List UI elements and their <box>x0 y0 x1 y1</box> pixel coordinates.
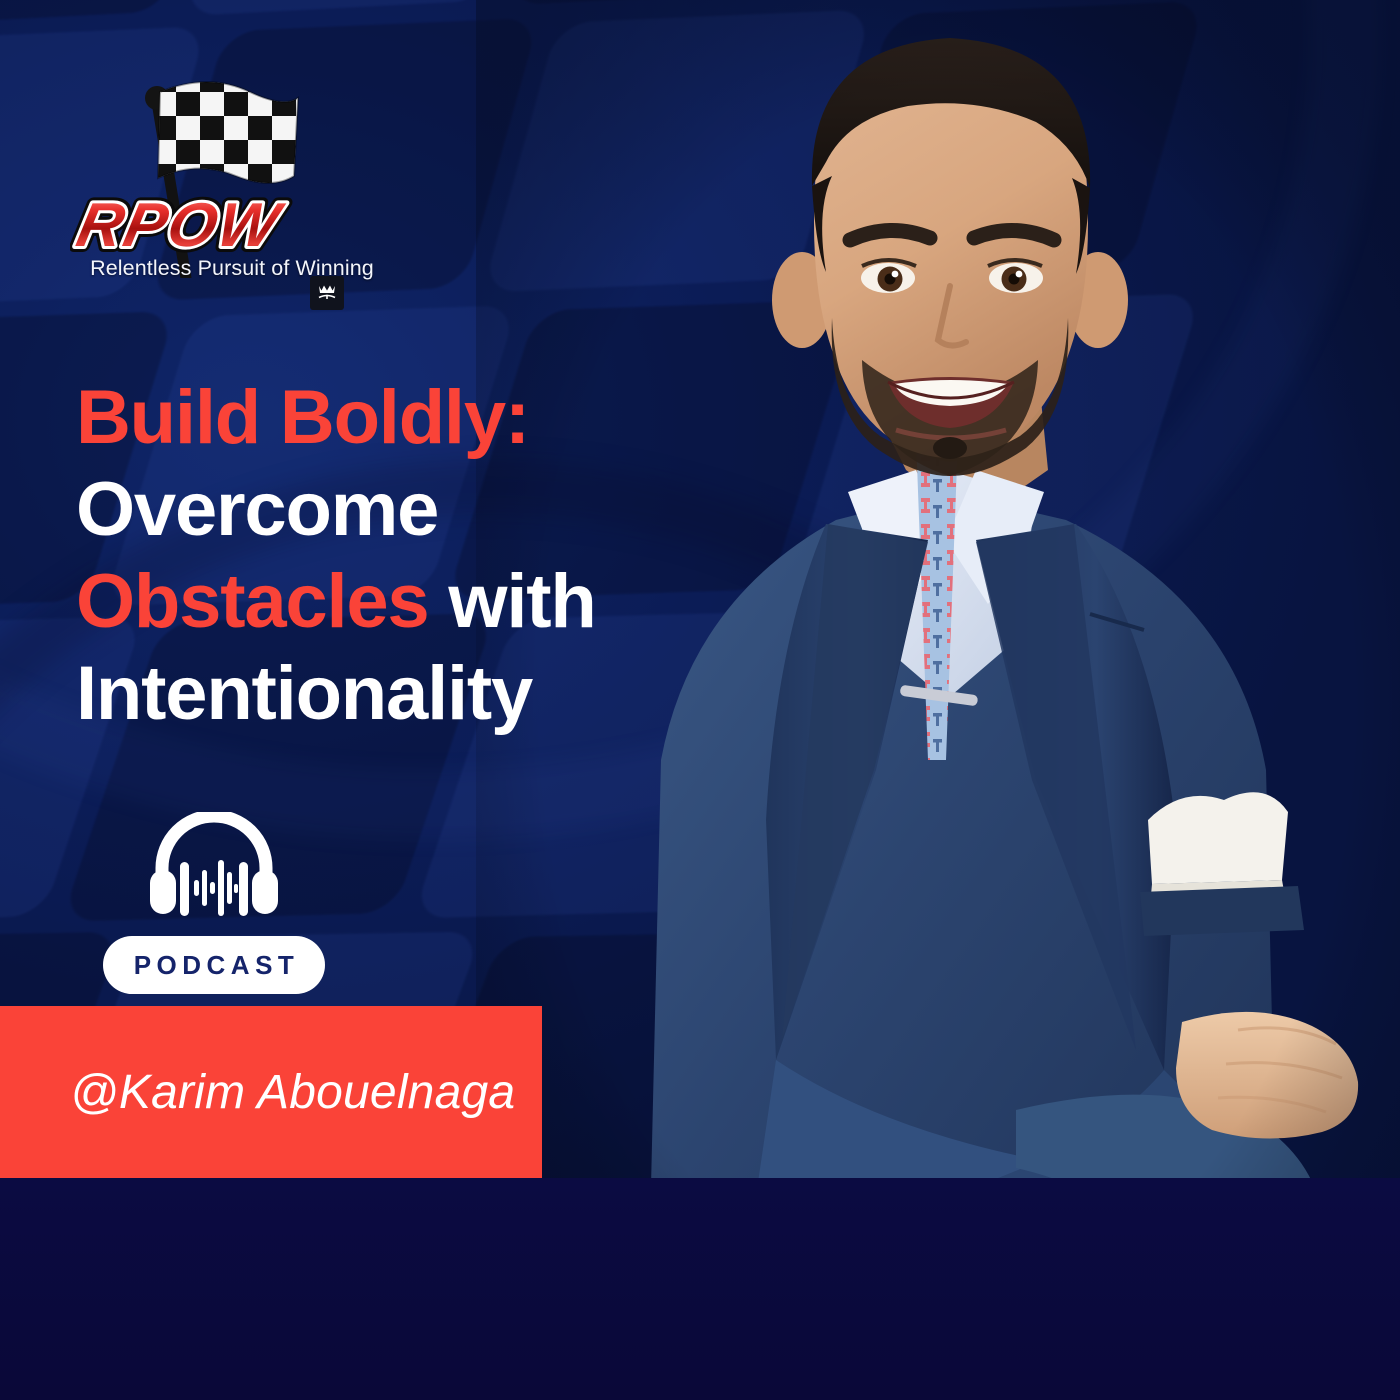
title-line-2-text: Overcome <box>76 467 438 552</box>
title-line-3-highlight: Obstacles <box>76 559 429 644</box>
title-line-3-text: with <box>429 559 596 644</box>
guest-handle-banner: @Karim Abouelnaga <box>0 1006 542 1178</box>
rpow-tagline: Relentless Pursuit of Winning <box>62 256 402 281</box>
podcast-label: PODCAST <box>129 950 300 981</box>
episode-title: Build Boldly: Overcome Obstacles with In… <box>76 372 716 740</box>
title-line-2: Overcome <box>76 464 716 556</box>
rpow-logo[interactable]: RPOW RPOW RPOW Relentless Pursuit of Win… <box>62 78 402 308</box>
title-line-4-text: Intentionality <box>76 651 532 736</box>
title-line-3: Obstacles with <box>76 556 716 648</box>
rpow-wordmark: RPOW RPOW RPOW <box>70 190 380 260</box>
bottom-dark-band <box>0 1178 1400 1400</box>
title-line-1-text: Build Boldly: <box>76 375 529 460</box>
podcast-cover-art: K <box>0 0 1400 1400</box>
podcast-badge[interactable]: PODCAST <box>103 812 325 994</box>
guest-handle: @Karim Abouelnaga <box>70 1065 515 1120</box>
crown-icon <box>310 276 344 310</box>
title-line-4: Intentionality <box>76 648 716 740</box>
svg-text:RPOW: RPOW <box>71 191 289 260</box>
podcast-pill[interactable]: PODCAST <box>103 936 325 994</box>
title-line-1: Build Boldly: <box>76 372 716 464</box>
headphones-waveform-icon <box>144 812 284 920</box>
